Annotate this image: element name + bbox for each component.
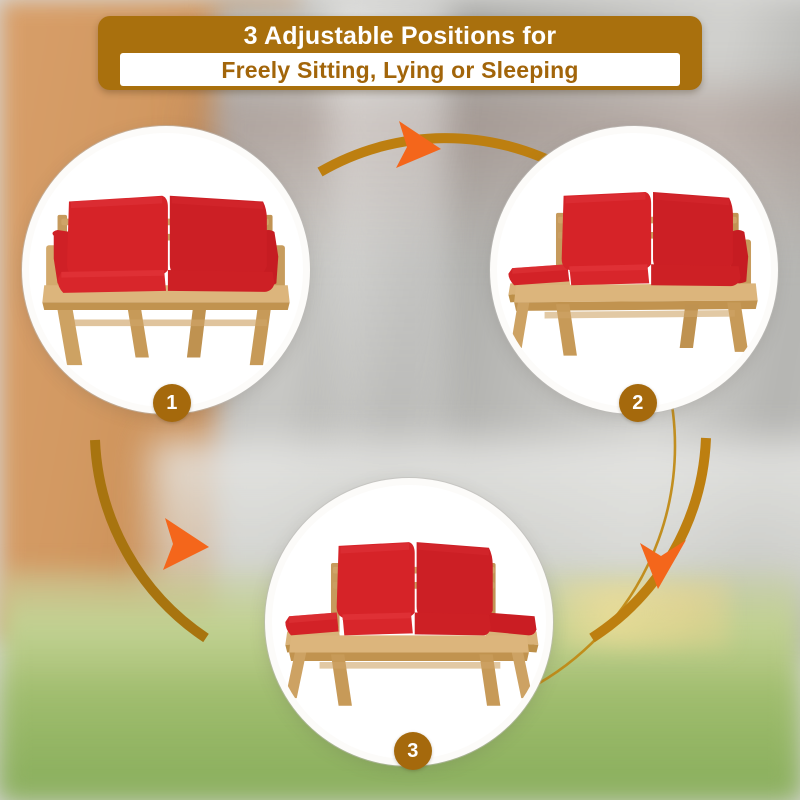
badge-position-3: 3 <box>394 732 432 770</box>
sofa-illustration-2 <box>497 133 771 407</box>
header-banner: 3 Adjustable Positions for Freely Sittin… <box>98 16 702 90</box>
panel-position-2[interactable] <box>490 126 778 414</box>
sofa-illustration-3 <box>272 485 546 759</box>
infographic-canvas: 1 <box>0 0 800 800</box>
badge-position-1: 1 <box>153 384 191 422</box>
banner-headline: 3 Adjustable Positions for <box>98 21 702 51</box>
arrow-2-to-3-arc <box>592 438 706 638</box>
badge-label: 3 <box>407 740 419 763</box>
badge-label: 2 <box>632 392 644 415</box>
banner-subhead-box: Freely Sitting, Lying or Sleeping <box>120 53 680 86</box>
panel-position-1[interactable] <box>22 126 310 414</box>
panel-position-3[interactable] <box>265 478 553 766</box>
badge-position-2: 2 <box>619 384 657 422</box>
sofa-illustration-1 <box>29 133 303 407</box>
banner-subhead: Freely Sitting, Lying or Sleeping <box>221 57 578 83</box>
arrow-3-to-1-head <box>163 518 209 570</box>
badge-label: 1 <box>166 392 178 415</box>
